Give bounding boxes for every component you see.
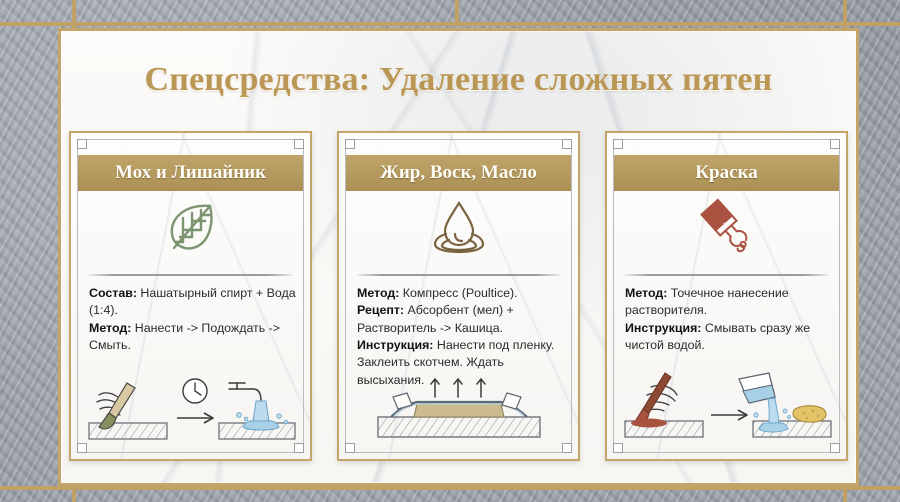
line-label: Метод:	[357, 286, 399, 300]
droplet-icon	[428, 199, 490, 257]
line-label: Метод:	[89, 321, 131, 335]
line-label: Метод:	[625, 286, 667, 300]
solvent-brush	[636, 373, 671, 421]
card-body-paint: Метод: Точечное нанесение растворителя. …	[625, 285, 832, 354]
card-header-label: Мох и Лишайник	[115, 162, 266, 184]
brush-handle	[99, 383, 135, 429]
grout-line-horizontal-top	[0, 22, 900, 26]
corner-bracket-top-right	[294, 139, 304, 149]
clock-icon	[183, 379, 207, 403]
icon-zone	[347, 193, 570, 263]
corner-bracket-top-right	[830, 139, 840, 149]
marble-panel: Спецсредства: Удаление сложных пятен Мох…	[58, 28, 859, 486]
line-label: Состав:	[89, 286, 137, 300]
leaf-icon	[160, 199, 222, 257]
corner-bracket-top-left	[613, 139, 623, 149]
arrow-right-icon	[711, 410, 747, 420]
hatched-slab	[378, 417, 540, 437]
faucet-icon	[229, 383, 261, 401]
slide-root: Спецсредства: Удаление сложных пятен Мох…	[0, 0, 900, 502]
card-header-paint: Краска	[614, 155, 839, 191]
card-paint[interactable]: Краска	[605, 131, 848, 461]
corner-bracket-top-left	[345, 139, 355, 149]
card-body-moss-lichen: Состав: Нашатырный спирт + Вода (1:4). М…	[89, 285, 296, 354]
tape-piece-right	[502, 393, 521, 409]
grout-line-horizontal-bottom	[0, 486, 900, 490]
body-line: Метод: Точечное нанесение растворителя.	[625, 285, 832, 320]
corner-bracket-top-right	[562, 139, 572, 149]
apply-wait-rinse-scene	[83, 371, 298, 445]
line-label: Инструкция:	[625, 321, 701, 335]
line-label: Рецепт:	[357, 303, 404, 317]
card-header-grease-wax-oil: Жир, Воск, Масло	[346, 155, 571, 191]
section-divider	[89, 274, 292, 276]
stain-spot	[631, 419, 667, 428]
card-header-moss-lichen: Мох и Лишайник	[78, 155, 303, 191]
body-line: Метод: Нанести -> Подождать -> Смыть.	[89, 320, 296, 355]
grout-line-vertical-mid	[455, 0, 459, 22]
card-header-label: Краска	[695, 162, 757, 184]
section-divider	[625, 274, 828, 276]
sponge-icon	[793, 406, 826, 422]
icon-zone	[615, 193, 838, 263]
evaporation-arrows	[431, 379, 485, 397]
body-line: Метод: Компресс (Poultice).	[357, 285, 564, 302]
body-line: Инструкция: Смывать сразу же чистой водо…	[625, 320, 832, 355]
card-grease-wax-oil[interactable]: Жир, Воск, Масло Метод: Компресс (	[337, 131, 580, 461]
card-header-label: Жир, Воск, Масло	[380, 162, 537, 184]
poultice-film-scene	[351, 371, 566, 445]
section-divider	[357, 274, 560, 276]
cards-row: Мох и Лишайник Сост	[61, 131, 856, 463]
line-label: Инструкция:	[357, 338, 433, 352]
icon-zone	[79, 193, 302, 263]
page-title: Спецсредства: Удаление сложных пятен	[61, 61, 856, 99]
card-moss-lichen[interactable]: Мох и Лишайник Сост	[69, 131, 312, 461]
paint-brush-icon	[695, 199, 759, 257]
body-line: Рецепт: Абсорбент (мел) + Растворитель -…	[357, 302, 564, 337]
brush-bristles	[701, 200, 731, 230]
body-line: Состав: Нашатырный спирт + Вода (1:4).	[89, 285, 296, 320]
solvent-rinse-sponge-scene	[619, 371, 834, 445]
arrow-right-icon	[177, 413, 213, 423]
corner-bracket-top-left	[77, 139, 87, 149]
line-text: Компресс (Poultice).	[399, 286, 517, 300]
